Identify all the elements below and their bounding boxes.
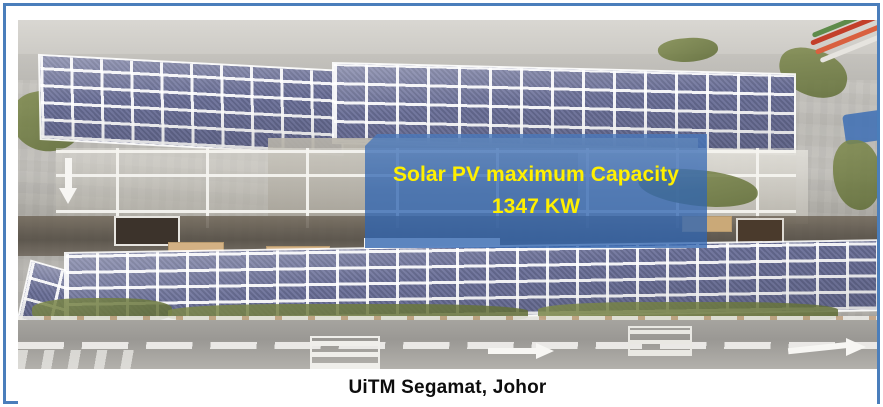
- arrow-stem: [788, 342, 850, 354]
- arrow-head: [536, 343, 554, 359]
- arrow-stem: [488, 348, 540, 354]
- pavement-arrow-right-icon: [488, 342, 558, 358]
- pavement-arrow-right-icon: [788, 338, 877, 356]
- figure-caption: UiTM Segamat, Johor: [348, 377, 546, 399]
- pavement-arrow-down-icon: [58, 158, 78, 206]
- capacity-callout: Solar PV maximum Capacity 1347 KW: [365, 134, 707, 248]
- figure-root: Solar PV maximum Capacity 1347 KW UiTM S…: [0, 0, 883, 407]
- callout-line-1: Solar PV maximum Capacity: [393, 162, 679, 188]
- road-marking-ladder: [628, 326, 692, 356]
- arrow-head: [846, 338, 866, 356]
- road-marking-ladder: [310, 336, 380, 369]
- road-marking-dashed: [18, 342, 877, 349]
- callout-line-2: 1347 KW: [492, 194, 580, 220]
- arrow-stem: [65, 158, 72, 192]
- aerial-photo: Solar PV maximum Capacity 1347 KW: [18, 20, 877, 369]
- caption-area: UiTM Segamat, Johor: [18, 372, 877, 404]
- drain-grate: [736, 218, 784, 246]
- figure-border: Solar PV maximum Capacity 1347 KW UiTM S…: [3, 3, 880, 404]
- arrow-head: [59, 188, 77, 204]
- road-marking-hatch: [18, 350, 138, 369]
